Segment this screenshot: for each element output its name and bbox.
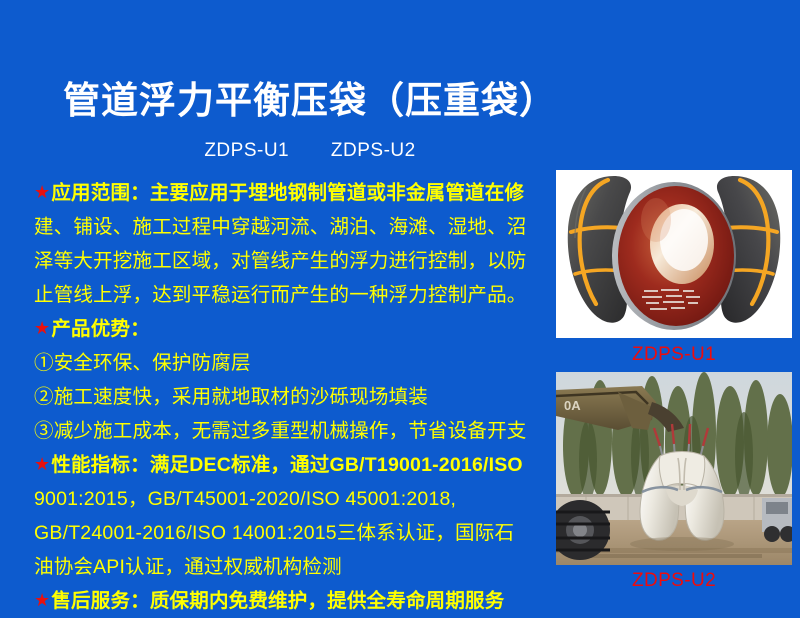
- text-line-content: 油协会API认证，通过权威机构检测: [34, 556, 342, 578]
- text-line: ★产品优势：: [34, 312, 542, 346]
- text-line-content: 9001:2015，GB/T45001-2020/ISO 45001:2018,: [34, 488, 456, 510]
- star-bullet-icon: ★: [34, 447, 50, 481]
- saddle-bag-illustration: 0A: [556, 372, 792, 565]
- star-bullet-icon: ★: [34, 583, 50, 617]
- page-title: 管道浮力平衡压袋（压重袋）: [0, 78, 620, 124]
- text-line-content: 性能指标：满足DEC标准，通过GB/T19001-2016/ISO: [51, 454, 522, 476]
- text-line-content: ③减少施工成本，无需过多重型机械操作，节省设备开支: [34, 420, 527, 442]
- text-line-content: 泽等大开挖施工区域，对管线产生的浮力进行控制，以防: [34, 250, 527, 272]
- text-line: 油协会API认证，通过权威机构检测: [34, 550, 542, 584]
- text-line: ③减少施工成本，无需过多重型机械操作，节省设备开支: [34, 414, 542, 448]
- text-line-content: 售后服务：质保期内免费维护，提供全寿命周期服务: [51, 590, 504, 612]
- text-line: ★性能指标：满足DEC标准，通过GB/T19001-2016/ISO: [34, 448, 542, 482]
- photo-caption-u2: ZDPS-U2: [556, 570, 792, 592]
- model-code-u2: ZDPS-U2: [331, 140, 416, 161]
- text-line: 建、铺设、施工过程中穿越河流、湖泊、海滩、湿地、沼: [34, 210, 542, 244]
- slide-canvas: 管道浮力平衡压袋（压重袋） ZDPS-U1 ZDPS-U2 ★应用范围：主要应用…: [0, 0, 800, 600]
- text-line: ★应用范围：主要应用于埋地钢制管道或非金属管道在修: [34, 176, 542, 210]
- star-bullet-icon: ★: [34, 311, 50, 345]
- text-line: GB/T24001-2016/ISO 14001:2015三体系认证，国际石: [34, 516, 542, 550]
- photo-caption-u1: ZDPS-U1: [556, 344, 792, 366]
- svg-text:0A: 0A: [564, 398, 581, 413]
- product-photo-saddle-bag-on-loader: 0A: [556, 372, 792, 565]
- text-line-content: 止管线上浮，达到平稳运行而产生的一种浮力控制产品。: [34, 284, 527, 306]
- body-text-block: ★应用范围：主要应用于埋地钢制管道或非金属管道在修 建、铺设、施工过程中穿越河流…: [34, 176, 542, 618]
- model-code-u1: ZDPS-U1: [204, 140, 289, 161]
- text-line-content: GB/T24001-2016/ISO 14001:2015三体系认证，国际石: [34, 522, 514, 544]
- text-line: 止管线上浮，达到平稳运行而产生的一种浮力控制产品。: [34, 278, 542, 312]
- pipe-ballast-illustration: [556, 170, 792, 338]
- star-bullet-icon: ★: [34, 175, 50, 209]
- text-line-content: 建、铺设、施工过程中穿越河流、湖泊、海滩、湿地、沼: [34, 216, 527, 238]
- text-line: ①安全环保、保护防腐层: [34, 346, 542, 380]
- text-line-content: 应用范围：主要应用于埋地钢制管道或非金属管道在修: [51, 182, 524, 204]
- model-subtitle: ZDPS-U1 ZDPS-U2: [0, 140, 620, 162]
- product-photo-pipe-with-ballast-bags: [556, 170, 792, 338]
- text-line-content: ①安全环保、保护防腐层: [34, 352, 251, 374]
- text-line: ②施工速度快，采用就地取材的沙砾现场填装: [34, 380, 542, 414]
- text-line-content: 产品优势：: [51, 318, 150, 340]
- text-line: 泽等大开挖施工区域，对管线产生的浮力进行控制，以防: [34, 244, 542, 278]
- text-line: ★售后服务：质保期内免费维护，提供全寿命周期服务: [34, 584, 542, 618]
- text-line: 9001:2015，GB/T45001-2020/ISO 45001:2018,: [34, 482, 542, 516]
- text-line-content: ②施工速度快，采用就地取材的沙砾现场填装: [34, 386, 428, 408]
